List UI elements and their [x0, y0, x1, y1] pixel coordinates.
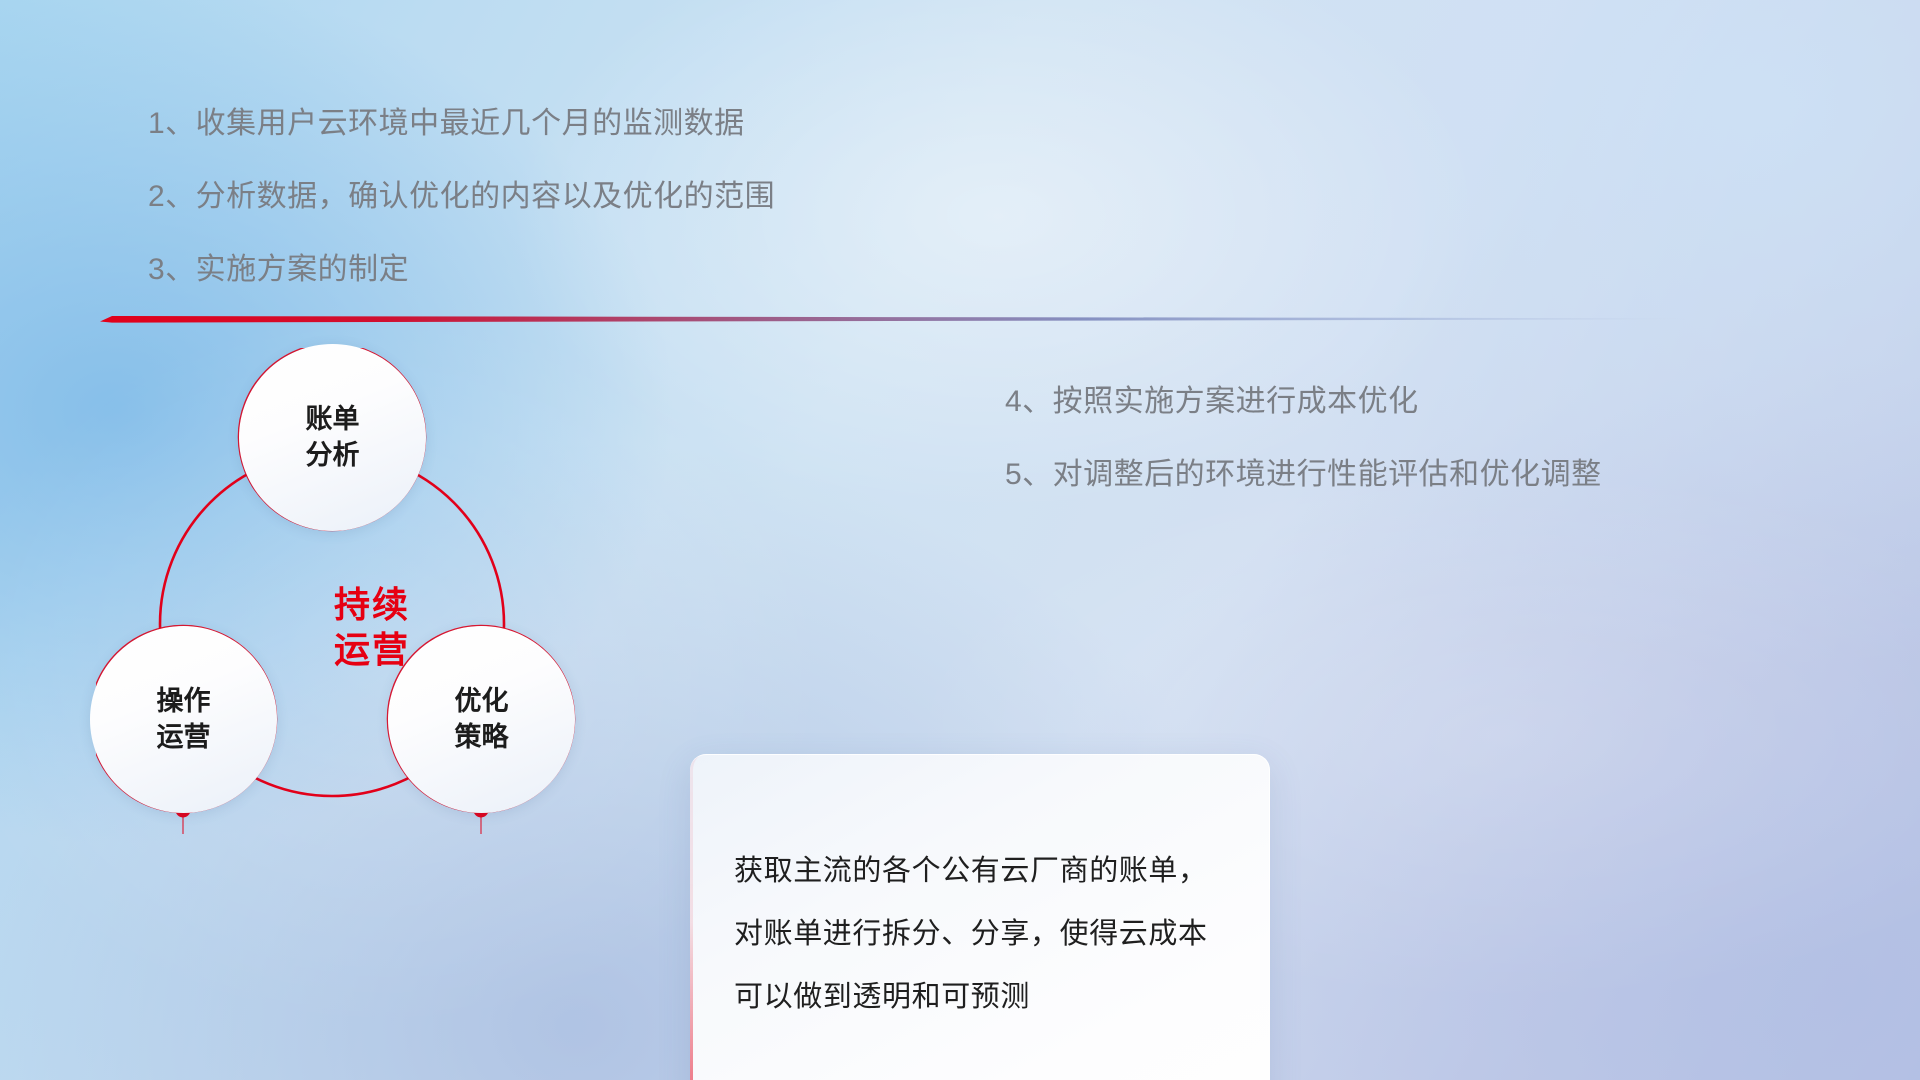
diagram-center-label: 持续 运营: [272, 583, 472, 672]
step-item-5: 5、对调整后的环境进行性能评估和优化调整: [1005, 449, 1920, 493]
step-item-3: 3、实施方案的制定: [148, 244, 1920, 288]
diagram-node-bill-analysis[interactable]: 账单 分析: [239, 344, 426, 531]
diagram-node-label-line1: 账单: [306, 402, 360, 437]
section-divider: [100, 312, 1690, 324]
step-item-2: 2、分析数据，确认优化的内容以及优化的范围: [148, 171, 1920, 215]
cycle-diagram: 账单 分析 操作 运营 优化 策略 持续 运营: [96, 348, 656, 958]
steps-list-left: 1、收集用户云环境中最近几个月的监测数据 2、分析数据，确认优化的内容以及优化的…: [148, 98, 1920, 288]
feature-card-multicloud-billing[interactable]: 获取主流的各个公有云厂商的账单，对账单进行拆分、分享，使得云成本可以做到透明和可…: [690, 754, 1270, 1080]
feature-card-body: 获取主流的各个公有云厂商的账单，对账单进行拆分、分享，使得云成本可以做到透明和可…: [734, 840, 1234, 1030]
diagram-node-operations[interactable]: 操作 运营: [90, 626, 277, 813]
diagram-node-label-line2: 运营: [157, 720, 211, 755]
diagram-node-label-line2: 策略: [455, 720, 509, 755]
diagram-center-label-line1: 持续: [272, 583, 472, 628]
steps-list-right: 4、按照实施方案进行成本优化 5、对调整后的环境进行性能评估和优化调整: [1005, 376, 1920, 493]
step-item-4: 4、按照实施方案进行成本优化: [1005, 376, 1920, 420]
diagram-node-label-line1: 优化: [455, 684, 509, 719]
diagram-center-label-line2: 运营: [272, 628, 472, 673]
diagram-node-label-line2: 分析: [306, 438, 360, 473]
step-item-1: 1、收集用户云环境中最近几个月的监测数据: [148, 98, 1920, 142]
diagram-node-label-line1: 操作: [157, 684, 211, 719]
slide-canvas: 1、收集用户云环境中最近几个月的监测数据 2、分析数据，确认优化的内容以及优化的…: [0, 0, 1920, 1080]
